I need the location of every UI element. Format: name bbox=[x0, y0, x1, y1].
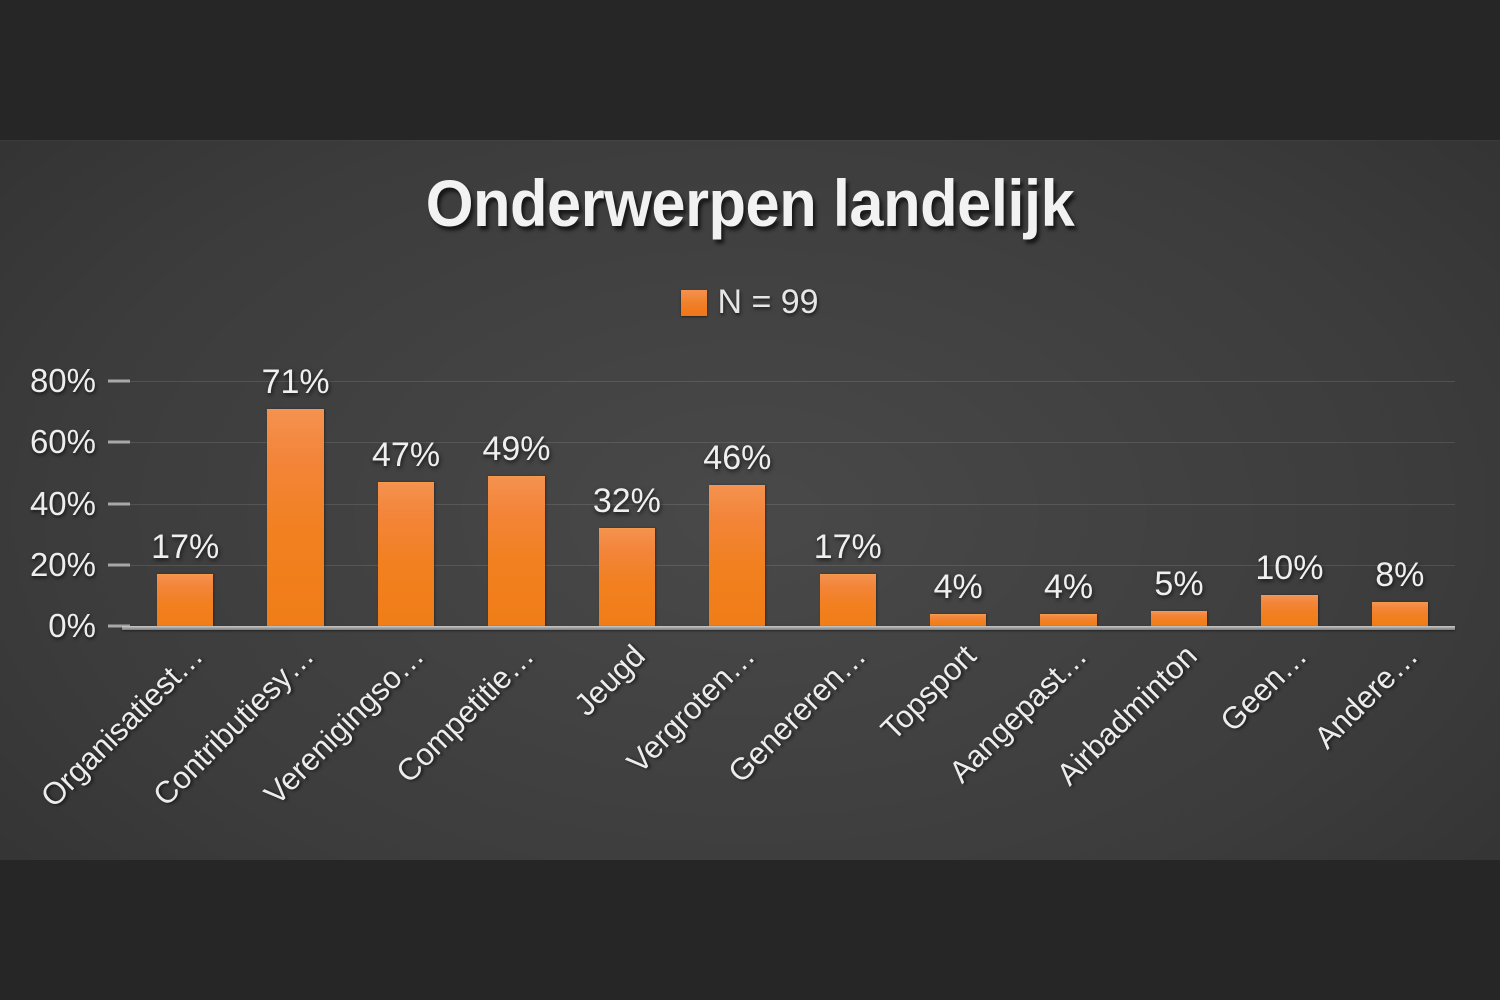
x-axis-line bbox=[122, 626, 1455, 630]
bar-slot: 49% bbox=[461, 381, 571, 626]
bar-value-label: 47% bbox=[372, 436, 440, 475]
y-axis-tick-mark bbox=[108, 502, 130, 505]
slide-canvas: Onderwerpen landelijk N = 99 0%20%40%60%… bbox=[0, 0, 1500, 1000]
bar-slot: 17% bbox=[130, 381, 240, 626]
bar-value-label: 17% bbox=[151, 528, 219, 567]
bar-slot: 4% bbox=[903, 381, 1013, 626]
bar[interactable]: 32% bbox=[599, 528, 655, 626]
bar-value-label: 5% bbox=[1154, 565, 1203, 604]
bar-value-label: 17% bbox=[814, 528, 882, 567]
bar[interactable]: 8% bbox=[1372, 602, 1428, 627]
bar[interactable]: 46% bbox=[709, 485, 765, 626]
bar[interactable]: 10% bbox=[1261, 595, 1317, 626]
bar[interactable]: 71% bbox=[267, 409, 323, 626]
x-label-slot: Airbadminton bbox=[1124, 634, 1234, 854]
bar-slot: 4% bbox=[1013, 381, 1123, 626]
bar-series: 17%71%47%49%32%46%17%4%4%5%10%8% bbox=[130, 381, 1455, 626]
x-label-slot: Andere… bbox=[1345, 634, 1455, 854]
bar-slot: 32% bbox=[572, 381, 682, 626]
y-axis-tick-label: 80% bbox=[12, 362, 122, 400]
bar[interactable]: 17% bbox=[820, 574, 876, 626]
x-axis-category-label: Jeugd bbox=[567, 638, 652, 723]
bar[interactable]: 17% bbox=[157, 574, 213, 626]
y-axis-tick-label: 60% bbox=[12, 423, 122, 461]
y-axis-tick-label: 40% bbox=[12, 485, 122, 523]
bar-value-label: 4% bbox=[934, 568, 983, 607]
bar-value-label: 4% bbox=[1044, 568, 1093, 607]
y-axis-tick-mark bbox=[108, 380, 130, 383]
bar-slot: 10% bbox=[1234, 381, 1344, 626]
bar-slot: 8% bbox=[1345, 381, 1455, 626]
bar[interactable]: 4% bbox=[930, 614, 986, 626]
y-axis-tick-mark bbox=[108, 441, 130, 444]
chart-title: Onderwerpen landelijk bbox=[53, 165, 1448, 241]
bar-slot: 71% bbox=[240, 381, 350, 626]
bar-slot: 47% bbox=[351, 381, 461, 626]
bar-slot: 17% bbox=[793, 381, 903, 626]
bar-value-label: 46% bbox=[703, 439, 771, 478]
bar-value-label: 49% bbox=[482, 430, 550, 469]
y-axis-tick-mark bbox=[108, 563, 130, 566]
bar-slot: 46% bbox=[682, 381, 792, 626]
bar-value-label: 71% bbox=[262, 363, 330, 402]
bar[interactable]: 47% bbox=[378, 482, 434, 626]
bar-value-label: 10% bbox=[1255, 549, 1323, 588]
x-label-slot: Competitie… bbox=[461, 634, 571, 854]
plot-area: 0%20%40%60%80% 17%71%47%49%32%46%17%4%4%… bbox=[130, 381, 1455, 626]
bar-value-label: 32% bbox=[593, 482, 661, 521]
legend-color-swatch-icon bbox=[681, 290, 707, 316]
legend-label: N = 99 bbox=[717, 283, 818, 322]
bar-value-label: 8% bbox=[1375, 556, 1424, 595]
x-axis-labels: Organisatiest…Contributiesy…Verenigingso… bbox=[130, 634, 1455, 854]
x-label-slot: Genereren… bbox=[793, 634, 903, 854]
chart-legend: N = 99 bbox=[0, 283, 1500, 322]
bar[interactable]: 4% bbox=[1040, 614, 1096, 626]
y-axis-tick-label: 20% bbox=[12, 546, 122, 584]
bar[interactable]: 5% bbox=[1151, 611, 1207, 626]
y-axis-tick-label: 0% bbox=[12, 607, 122, 645]
bar[interactable]: 49% bbox=[488, 476, 544, 626]
bar-slot: 5% bbox=[1124, 381, 1234, 626]
